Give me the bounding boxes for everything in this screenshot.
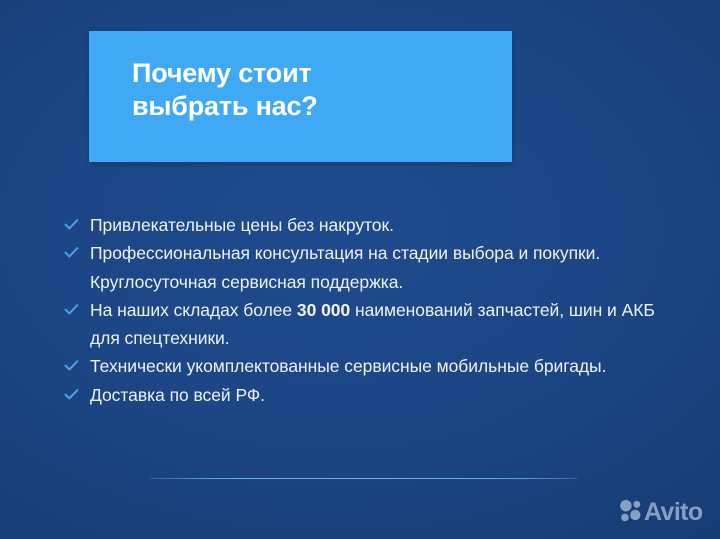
list-item: На наших складах более 30 000 наименован… <box>63 296 663 353</box>
list-item: Профессиональная консультация на стадии … <box>63 239 663 296</box>
list-item-label: Технически укомплектованные сервисные мо… <box>90 356 606 376</box>
list-item-label: На наших складах более 30 000 наименован… <box>90 300 655 348</box>
check-icon <box>64 245 79 260</box>
page-title: Почему стоит выбрать нас? <box>132 57 492 123</box>
list-item: Привлекательные цены без накруток. <box>63 211 663 239</box>
check-icon <box>64 387 79 402</box>
list-item: Доставка по всей РФ. <box>63 381 663 409</box>
check-icon <box>64 302 79 317</box>
slide-canvas: Почему стоит выбрать нас? Привлекательны… <box>0 0 720 539</box>
check-icon <box>64 358 79 373</box>
benefits-list: Привлекательные цены без накруток. Профе… <box>63 211 663 409</box>
avito-wordmark: Avito <box>644 500 703 525</box>
check-icon <box>64 217 79 232</box>
list-item-label: Профессиональная консультация на стадии … <box>90 243 600 291</box>
list-item-label: Привлекательные цены без накруток. <box>90 215 394 235</box>
divider <box>150 478 577 479</box>
list-item: Технически укомплектованные сервисные мо… <box>63 352 663 380</box>
list-item-label: Доставка по всей РФ. <box>90 385 265 405</box>
avito-dots-icon <box>619 499 642 527</box>
title-banner: Почему стоит выбрать нас? <box>89 31 512 162</box>
avito-watermark: Avito <box>619 498 705 527</box>
